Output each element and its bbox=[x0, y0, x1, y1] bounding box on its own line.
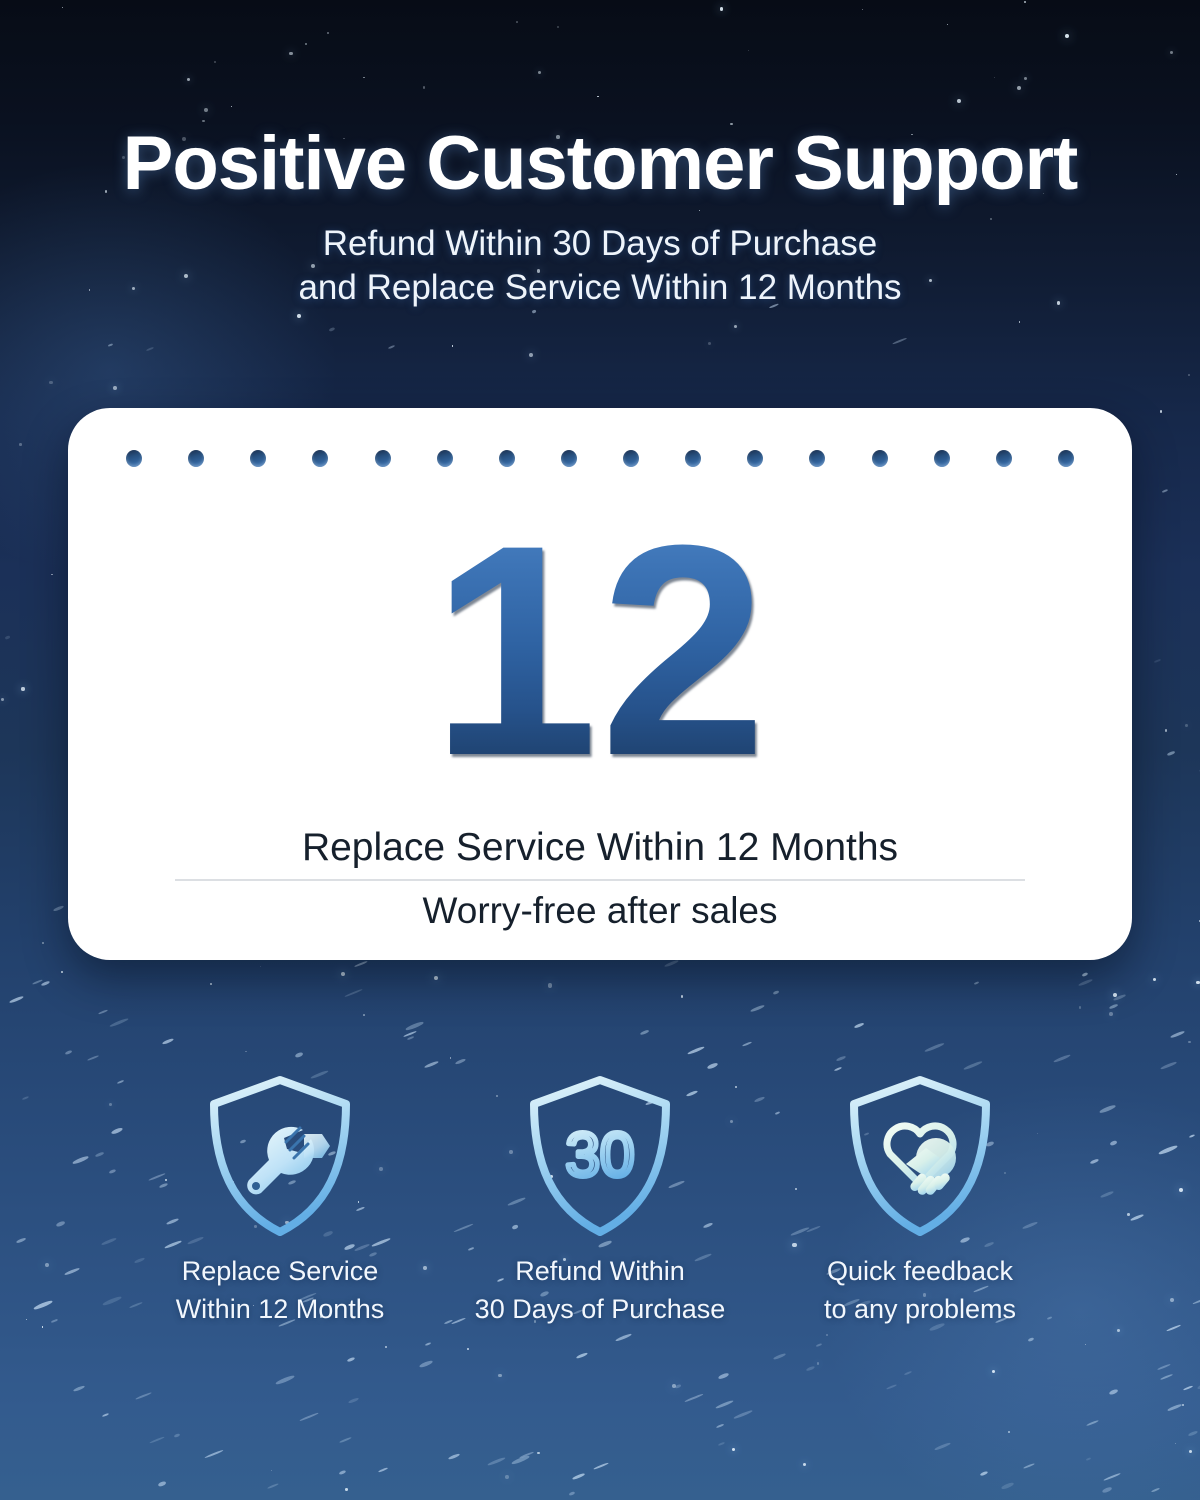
streak-particle bbox=[87, 1055, 99, 1061]
streak-particle bbox=[354, 960, 368, 967]
star-particle bbox=[537, 1452, 540, 1455]
streak-particle bbox=[707, 1062, 718, 1069]
streak-particle bbox=[108, 1169, 115, 1175]
star-particle bbox=[1008, 1431, 1011, 1434]
streak-particle bbox=[750, 1004, 765, 1013]
streak-particle bbox=[98, 1010, 108, 1015]
punch-hole bbox=[1058, 450, 1074, 467]
card-divider bbox=[175, 879, 1025, 881]
streak-particle bbox=[1023, 1463, 1035, 1469]
star-particle bbox=[51, 574, 53, 576]
streak-particle bbox=[378, 1467, 388, 1472]
punch-hole bbox=[872, 450, 888, 467]
star-particle bbox=[1019, 321, 1020, 322]
streak-particle bbox=[773, 1353, 786, 1360]
streak-particle bbox=[41, 980, 50, 986]
streak-particle bbox=[1028, 1337, 1035, 1342]
star-particle bbox=[385, 1346, 387, 1348]
streak-particle bbox=[348, 1397, 359, 1404]
star-particle bbox=[862, 9, 863, 10]
star-particle bbox=[245, 1051, 247, 1053]
punch-hole bbox=[499, 450, 515, 467]
streak-particle bbox=[1086, 1420, 1099, 1427]
star-particle bbox=[957, 99, 961, 103]
star-particle bbox=[42, 1326, 44, 1328]
streak-particle bbox=[519, 1452, 533, 1459]
streak-particle bbox=[1100, 1191, 1114, 1199]
star-particle bbox=[548, 983, 552, 987]
star-particle bbox=[450, 1057, 451, 1058]
streak-particle bbox=[339, 1437, 352, 1444]
streak-particle bbox=[1109, 1389, 1119, 1396]
punch-hole bbox=[747, 450, 763, 467]
header-block: Positive Customer Support Refund Within … bbox=[0, 126, 1200, 310]
star-particle bbox=[49, 381, 53, 385]
streak-particle bbox=[806, 1365, 816, 1372]
badge-label: Replace Service Within 12 Months bbox=[140, 1252, 420, 1329]
badge-label: Quick feedback to any problems bbox=[780, 1252, 1060, 1329]
streak-particle bbox=[94, 1152, 103, 1158]
streak-particle bbox=[1078, 978, 1093, 986]
star-particle bbox=[1017, 86, 1021, 90]
streak-particle bbox=[773, 990, 780, 995]
streak-particle bbox=[16, 1238, 26, 1244]
star-particle bbox=[204, 108, 208, 112]
streak-particle bbox=[593, 1462, 609, 1470]
streak-particle bbox=[816, 1343, 823, 1348]
punch-hole bbox=[623, 450, 639, 467]
star-particle bbox=[289, 52, 293, 56]
streak-particle bbox=[733, 1409, 753, 1419]
streak-particle bbox=[924, 1042, 944, 1053]
streak-particle bbox=[836, 1055, 847, 1061]
star-particle bbox=[672, 1384, 676, 1388]
star-particle bbox=[803, 1463, 806, 1466]
streak-particle bbox=[32, 979, 43, 985]
streak-particle bbox=[294, 1051, 302, 1057]
streak-particle bbox=[425, 1342, 432, 1346]
streak-particle bbox=[1167, 1403, 1182, 1411]
page-title: Positive Customer Support bbox=[0, 126, 1200, 202]
punch-hole bbox=[188, 450, 204, 467]
streak-particle bbox=[886, 1384, 897, 1390]
streak-particle bbox=[419, 1359, 434, 1368]
streak-particle bbox=[5, 635, 11, 639]
punch-hole bbox=[934, 450, 950, 467]
streak-particle bbox=[1090, 1159, 1099, 1165]
star-particle bbox=[947, 24, 948, 25]
star-particle bbox=[1160, 410, 1163, 413]
badge-quick-feedback: Quick feedback to any problems bbox=[780, 1072, 1060, 1329]
streak-particle bbox=[1162, 489, 1168, 493]
badge-row: Replace Service Within 12 Months 30 R bbox=[140, 1072, 1060, 1329]
star-particle bbox=[26, 1319, 27, 1320]
streak-particle bbox=[56, 1221, 65, 1227]
star-particle bbox=[732, 1448, 735, 1451]
streak-particle bbox=[149, 1436, 164, 1444]
star-particle bbox=[305, 43, 307, 45]
streak-particle bbox=[1193, 1295, 1200, 1304]
streak-particle bbox=[853, 1022, 863, 1028]
star-particle bbox=[557, 26, 559, 28]
star-particle bbox=[1085, 1344, 1086, 1345]
star-particle bbox=[271, 1470, 273, 1472]
badge-refund-window: 30 Refund Within 30 Days of Purchase bbox=[460, 1072, 740, 1329]
star-particle bbox=[1179, 1188, 1183, 1192]
card-headline: Replace Service Within 12 Months bbox=[68, 826, 1132, 870]
punch-hole bbox=[126, 450, 142, 467]
star-particle bbox=[1113, 993, 1117, 997]
streak-particle bbox=[1167, 1324, 1182, 1331]
punch-hole bbox=[312, 450, 328, 467]
streak-particle bbox=[455, 1058, 467, 1065]
streak-particle bbox=[1158, 1144, 1178, 1155]
streak-particle bbox=[1001, 1482, 1014, 1490]
star-particle bbox=[817, 1362, 820, 1365]
streak-particle bbox=[1109, 1004, 1118, 1010]
card-subheadline: Worry-free after sales bbox=[68, 890, 1132, 932]
star-particle bbox=[1182, 1404, 1184, 1406]
star-particle bbox=[1175, 1443, 1177, 1445]
thirty-days-shield-icon: 30 bbox=[460, 1072, 740, 1240]
star-particle bbox=[681, 995, 684, 998]
star-particle bbox=[538, 71, 541, 74]
streak-particle bbox=[73, 1385, 86, 1392]
streak-particle bbox=[108, 343, 114, 347]
streak-particle bbox=[53, 905, 64, 912]
star-particle bbox=[423, 86, 425, 88]
streak-particle bbox=[1053, 1053, 1071, 1062]
streak-particle bbox=[1110, 1139, 1118, 1145]
streak-particle bbox=[204, 1450, 223, 1460]
streak-particle bbox=[687, 1046, 705, 1056]
star-particle bbox=[297, 314, 301, 318]
star-particle bbox=[42, 942, 44, 944]
streak-particle bbox=[833, 1066, 841, 1071]
streak-particle bbox=[1160, 1373, 1172, 1379]
star-particle bbox=[505, 1475, 509, 1479]
star-particle bbox=[260, 966, 261, 967]
star-particle bbox=[467, 1348, 469, 1350]
streak-particle bbox=[963, 1060, 983, 1071]
streak-particle bbox=[102, 1413, 109, 1418]
streak-particle bbox=[1099, 1104, 1116, 1114]
streak-particle bbox=[1160, 1061, 1177, 1070]
streak-particle bbox=[487, 1456, 505, 1466]
star-particle bbox=[327, 32, 330, 35]
star-particle bbox=[45, 1263, 49, 1267]
streak-particle bbox=[300, 1412, 319, 1421]
star-particle bbox=[1188, 1041, 1191, 1044]
star-particle bbox=[1185, 724, 1188, 727]
star-particle bbox=[62, 7, 64, 9]
streak-particle bbox=[742, 1042, 752, 1048]
star-particle bbox=[434, 976, 438, 980]
streak-particle bbox=[1130, 1214, 1144, 1222]
star-particle bbox=[748, 50, 749, 51]
streak-particle bbox=[102, 1296, 121, 1307]
streak-particle bbox=[339, 1470, 347, 1476]
star-particle bbox=[1065, 34, 1069, 38]
star-particle bbox=[720, 7, 724, 11]
star-particle bbox=[363, 77, 365, 79]
badge-label: Refund Within 30 Days of Purchase bbox=[460, 1252, 740, 1329]
star-particle bbox=[345, 1488, 348, 1491]
streak-particle bbox=[405, 1020, 424, 1030]
streak-particle bbox=[1167, 751, 1175, 756]
star-particle bbox=[1165, 729, 1167, 731]
streak-particle bbox=[1189, 1133, 1196, 1137]
promo-poster: Positive Customer Support Refund Within … bbox=[0, 0, 1200, 1500]
star-particle bbox=[1189, 1450, 1192, 1453]
streak-particle bbox=[715, 1399, 733, 1409]
streak-particle bbox=[934, 1442, 950, 1451]
star-particle bbox=[61, 971, 63, 973]
streak-particle bbox=[717, 1442, 724, 1446]
handshake-heart-shield-icon bbox=[780, 1072, 1060, 1240]
star-particle bbox=[1024, 1, 1026, 3]
streak-particle bbox=[388, 345, 395, 349]
streak-particle bbox=[117, 1080, 124, 1084]
page-subtitle: Refund Within 30 Days of Purchase and Re… bbox=[0, 222, 1200, 310]
streak-particle bbox=[1103, 1472, 1120, 1480]
streak-particle bbox=[511, 1454, 530, 1464]
punch-hole bbox=[561, 450, 577, 467]
star-particle bbox=[1170, 1298, 1174, 1302]
streak-particle bbox=[109, 1018, 129, 1028]
streak-particle bbox=[135, 1392, 151, 1400]
star-particle bbox=[1, 698, 4, 701]
punch-hole bbox=[685, 450, 701, 467]
star-particle bbox=[1117, 1329, 1120, 1332]
star-particle bbox=[1188, 374, 1190, 376]
star-particle bbox=[214, 61, 216, 63]
streak-particle bbox=[173, 1433, 180, 1438]
punch-hole bbox=[250, 450, 266, 467]
warranty-card: 12 Replace Service Within 12 Months Worr… bbox=[68, 408, 1132, 960]
streak-particle bbox=[718, 1372, 730, 1380]
streak-particle bbox=[664, 959, 679, 968]
star-particle bbox=[452, 345, 454, 347]
star-particle bbox=[826, 1334, 828, 1336]
star-particle bbox=[210, 983, 212, 985]
streak-particle bbox=[162, 1038, 174, 1045]
star-particle bbox=[994, 77, 995, 78]
streak-particle bbox=[275, 1374, 295, 1385]
streak-particle bbox=[158, 1481, 166, 1487]
star-particle bbox=[363, 1014, 365, 1016]
star-particle bbox=[187, 78, 190, 81]
streak-particle bbox=[33, 1300, 53, 1311]
streak-particle bbox=[568, 1491, 575, 1496]
streak-particle bbox=[407, 1036, 414, 1040]
streak-particle bbox=[1154, 659, 1161, 664]
star-particle bbox=[597, 96, 598, 97]
streak-particle bbox=[346, 1356, 355, 1362]
star-particle bbox=[341, 972, 345, 976]
streak-particle bbox=[1197, 1382, 1200, 1390]
star-particle bbox=[529, 353, 533, 357]
star-particle bbox=[1127, 1213, 1130, 1216]
streak-particle bbox=[576, 1352, 589, 1360]
punch-hole bbox=[437, 450, 453, 467]
star-particle bbox=[992, 1370, 995, 1373]
streak-particle bbox=[1086, 1457, 1092, 1461]
warranty-months-number: 12 bbox=[68, 500, 1132, 800]
streak-particle bbox=[145, 346, 153, 351]
streak-particle bbox=[72, 1154, 90, 1164]
streak-particle bbox=[675, 1384, 681, 1388]
star-particle bbox=[1196, 981, 1199, 984]
shield-number-text: 30 bbox=[566, 1121, 635, 1190]
streak-particle bbox=[684, 1393, 703, 1403]
streak-particle bbox=[1113, 994, 1126, 1001]
streak-particle bbox=[716, 1423, 724, 1427]
streak-particle bbox=[64, 1267, 80, 1275]
subtitle-line-2: and Replace Service Within 12 Months bbox=[0, 266, 1200, 310]
streak-particle bbox=[9, 995, 24, 1004]
streak-particle bbox=[1183, 1386, 1193, 1391]
streak-particle bbox=[1101, 1487, 1111, 1494]
streak-particle bbox=[615, 1333, 632, 1342]
streak-particle bbox=[904, 1371, 913, 1376]
star-particle bbox=[498, 1374, 502, 1378]
star-particle bbox=[21, 687, 24, 690]
streak-particle bbox=[572, 1473, 585, 1480]
streak-particle bbox=[974, 981, 980, 985]
star-particle bbox=[734, 325, 737, 328]
star-particle bbox=[1153, 978, 1157, 982]
streak-particle bbox=[1082, 972, 1089, 977]
punch-hole bbox=[809, 450, 825, 467]
streak-particle bbox=[424, 1060, 439, 1069]
streak-particle bbox=[892, 337, 907, 344]
streak-particle bbox=[1157, 1364, 1171, 1371]
streak-particle bbox=[64, 1050, 71, 1055]
star-particle bbox=[113, 386, 117, 390]
punch-hole bbox=[996, 450, 1012, 467]
star-particle bbox=[708, 342, 711, 345]
star-particle bbox=[1024, 77, 1027, 80]
star-particle bbox=[1079, 1006, 1082, 1009]
streak-particle bbox=[1170, 1030, 1185, 1038]
streak-particle bbox=[267, 1483, 279, 1490]
streak-particle bbox=[101, 1237, 117, 1246]
punch-hole bbox=[375, 450, 391, 467]
streak-particle bbox=[51, 1319, 58, 1324]
streak-particle bbox=[403, 1030, 417, 1037]
star-particle bbox=[1170, 51, 1173, 54]
streak-particle bbox=[22, 1095, 30, 1100]
subtitle-line-1: Refund Within 30 Days of Purchase bbox=[0, 222, 1200, 266]
star-particle bbox=[516, 21, 518, 23]
badge-replace-service: Replace Service Within 12 Months bbox=[140, 1072, 420, 1329]
streak-particle bbox=[111, 1126, 123, 1134]
streak-particle bbox=[1188, 1430, 1198, 1437]
streak-particle bbox=[980, 1470, 989, 1476]
star-particle bbox=[231, 106, 233, 108]
calendar-punch-holes bbox=[126, 448, 1074, 468]
wrench-shield-icon bbox=[140, 1072, 420, 1240]
streak-particle bbox=[448, 1453, 461, 1460]
streak-particle bbox=[329, 327, 335, 332]
star-particle bbox=[19, 443, 22, 446]
star-particle bbox=[1109, 1012, 1113, 1016]
star-particle bbox=[109, 1103, 112, 1106]
streak-particle bbox=[640, 1029, 649, 1035]
streak-particle bbox=[344, 988, 362, 997]
streak-particle bbox=[1151, 1488, 1160, 1493]
